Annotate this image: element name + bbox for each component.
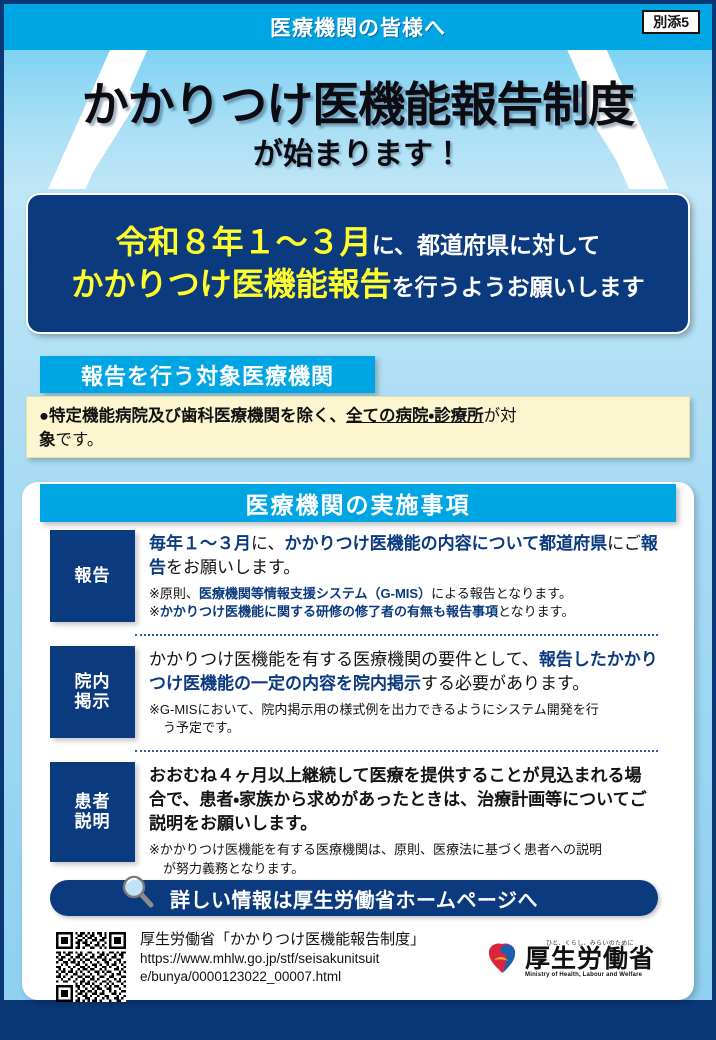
- posting-text-4: する必要があります。: [421, 674, 589, 693]
- row-separator-2: [135, 750, 658, 752]
- posting-text-1: かかりつけ医機能を有する医療機関の要件として、: [149, 650, 539, 669]
- report-text-1: に、: [251, 534, 285, 553]
- target-text-b: が対: [484, 407, 517, 425]
- note-prefix: ※G-MISにおいて、院内掲示用の様式例を出力できるようにシステム開発を行: [149, 702, 599, 717]
- row-separator-1: [135, 634, 658, 636]
- target-section-badge: 報告を行う対象医療機関: [40, 356, 375, 393]
- item-row-report: 報告 毎年１～３月に、かかりつけ医機能の内容について都道府県にご報告をお願いしま…: [50, 530, 658, 622]
- item-label-report: 報告: [50, 530, 135, 622]
- announcement-report-name: かかりつけ医機能報告: [71, 266, 391, 302]
- target-section-text: ●特定機能病院及び歯科医療機関を除く、全ての病院・診療所が対象です。: [39, 405, 677, 453]
- top-header-bar: 医療機関の皆様へ: [4, 4, 712, 50]
- item-content-posting: かかりつけ医機能を有する医療機関の要件として、報告したかかりつけ医機能の一定の内…: [135, 646, 658, 738]
- footer-url-line-2[interactable]: e/bunya/0000123022_00007.html: [140, 968, 440, 986]
- footer-site-title: 厚生労働省「かかりつけ医機能報告制度」: [140, 930, 440, 950]
- report-text-2: かかりつけ医機能の内容について都道府県: [285, 534, 608, 553]
- report-text-5: をお願いします。: [166, 558, 300, 577]
- announcement-line-1: 令和８年１～３月に、都道府県に対して: [116, 222, 601, 264]
- hero-banner: かかりつけ医機能報告制度 が始まります！: [4, 50, 712, 189]
- item-label-line: 掲示: [75, 692, 111, 712]
- note-prefix: ※: [149, 604, 160, 619]
- item-main-text: おおむね４ヶ月以上継続して医療を提供することが見込まれる場合で、患者・家族から求…: [149, 764, 658, 836]
- note-suffix: による報告となります。: [431, 586, 572, 601]
- note-prefix: ※かかりつけ医機能を有する医療機関は、原則、医療法に基づく患者への説明: [149, 842, 602, 857]
- announcement-period: 令和８年１～３月: [116, 224, 372, 260]
- announcement-line-2-rest: を行うようお願いします: [392, 274, 645, 300]
- items-section-badge: 医療機関の実施事項: [40, 484, 676, 522]
- item-row-explanation: 患者 説明 おおむね４ヶ月以上継続して医療を提供することが見込まれる場合で、患者…: [50, 762, 658, 862]
- report-text-3: にご: [607, 534, 641, 553]
- bullet-icon: ●: [39, 407, 49, 425]
- announcement-box: 令和８年１～３月に、都道府県に対して かかりつけ医機能報告を行うようお願いします: [26, 193, 690, 334]
- qr-code-icon: [56, 932, 126, 1002]
- note-bold: 医療機関等情報支援システム（G-MIS）: [199, 586, 431, 601]
- report-period: 毎年１～３月: [149, 534, 251, 553]
- footer-url-line-1[interactable]: https://www.mhlw.go.jp/stf/seisakunitsui…: [140, 950, 440, 968]
- item-note-1: ※原則、医療機関等情報支援システム（G-MIS）による報告となります。: [149, 585, 658, 603]
- item-label-line: 説明: [75, 812, 111, 832]
- target-text-d: です。: [56, 431, 104, 449]
- mhlw-emblem-icon: [485, 939, 519, 977]
- target-section-box: ●特定機能病院及び歯科医療機関を除く、全ての病院・診療所が対象です。: [26, 396, 690, 458]
- poster-page: 医療機関の皆様へ 別添5 かかりつけ医機能報告制度 が始まります！ 令和８年１～…: [0, 0, 716, 1040]
- item-main-text: かかりつけ医機能を有する医療機関の要件として、報告したかかりつけ医機能の一定の内…: [149, 648, 658, 696]
- item-note-1: ※G-MISにおいて、院内掲示用の様式例を出力できるようにシステム開発を行 う予…: [149, 701, 658, 737]
- target-text-a: 特定機能病院及び歯科医療機関を除く、: [49, 407, 346, 425]
- item-label-line: 患者: [75, 792, 111, 812]
- note-continuation: が努力義務となります。: [149, 860, 658, 878]
- magnifier-icon: [118, 873, 160, 915]
- item-label-posting: 院内 掲示: [50, 646, 135, 738]
- website-banner[interactable]: 詳しい情報は厚生労働省ホームページへ: [50, 880, 658, 916]
- note-continuation: う予定です。: [149, 719, 658, 737]
- mhlw-name: 厚生労働省: [525, 947, 655, 972]
- target-text-c: 象: [39, 431, 56, 449]
- note-prefix: ※原則、: [149, 586, 199, 601]
- item-note-1: ※かかりつけ医機能を有する医療機関は、原則、医療法に基づく患者への説明 が努力義…: [149, 841, 658, 877]
- item-main-text: 毎年１～３月に、かかりつけ医機能の内容について都道府県にご報告をお願いします。: [149, 532, 658, 580]
- hero-title: かかりつけ医機能報告制度: [4, 66, 712, 135]
- item-label-explanation: 患者 説明: [50, 762, 135, 862]
- note-bold: かかりつけ医機能に関する研修の修了者の有無も報告事項: [160, 604, 498, 619]
- banner-label: 詳しい情報は厚生労働省ホームページへ: [170, 884, 538, 913]
- target-text-underlined: 全ての病院・診療所: [346, 407, 484, 425]
- item-label-line: 院内: [75, 672, 111, 692]
- mhlw-logo: ひと、くらし、みらいのために 厚生労働省 Ministry of Health,…: [485, 938, 665, 996]
- attachment-number-tag: 別添5: [642, 10, 700, 34]
- item-content-explanation: おおむね４ヶ月以上継続して医療を提供することが見込まれる場合で、患者・家族から求…: [135, 762, 658, 862]
- note-suffix: となります。: [498, 604, 574, 619]
- announcement-line-2: かかりつけ医機能報告を行うようお願いします: [71, 264, 644, 306]
- hero-subtitle: が始まります！: [4, 129, 712, 173]
- item-row-posting: 院内 掲示 かかりつけ医機能を有する医療機関の要件として、報告したかかりつけ医機…: [50, 646, 658, 738]
- item-label-line: 報告: [75, 566, 111, 586]
- footer-link-text: 厚生労働省「かかりつけ医機能報告制度」 https://www.mhlw.go.…: [140, 930, 440, 985]
- mhlw-english-name: Ministry of Health, Labour and Welfare: [525, 972, 655, 978]
- item-content-report: 毎年１～３月に、かかりつけ医機能の内容について都道府県にご報告をお願いします。 …: [135, 530, 658, 622]
- posting-text-2: 報告した: [539, 650, 607, 669]
- announcement-line-1-rest: に、都道府県に対して: [372, 232, 601, 258]
- header-title: 医療機関の皆様へ: [270, 12, 446, 42]
- item-note-2: ※かかりつけ医機能に関する研修の修了者の有無も報告事項となります。: [149, 603, 658, 621]
